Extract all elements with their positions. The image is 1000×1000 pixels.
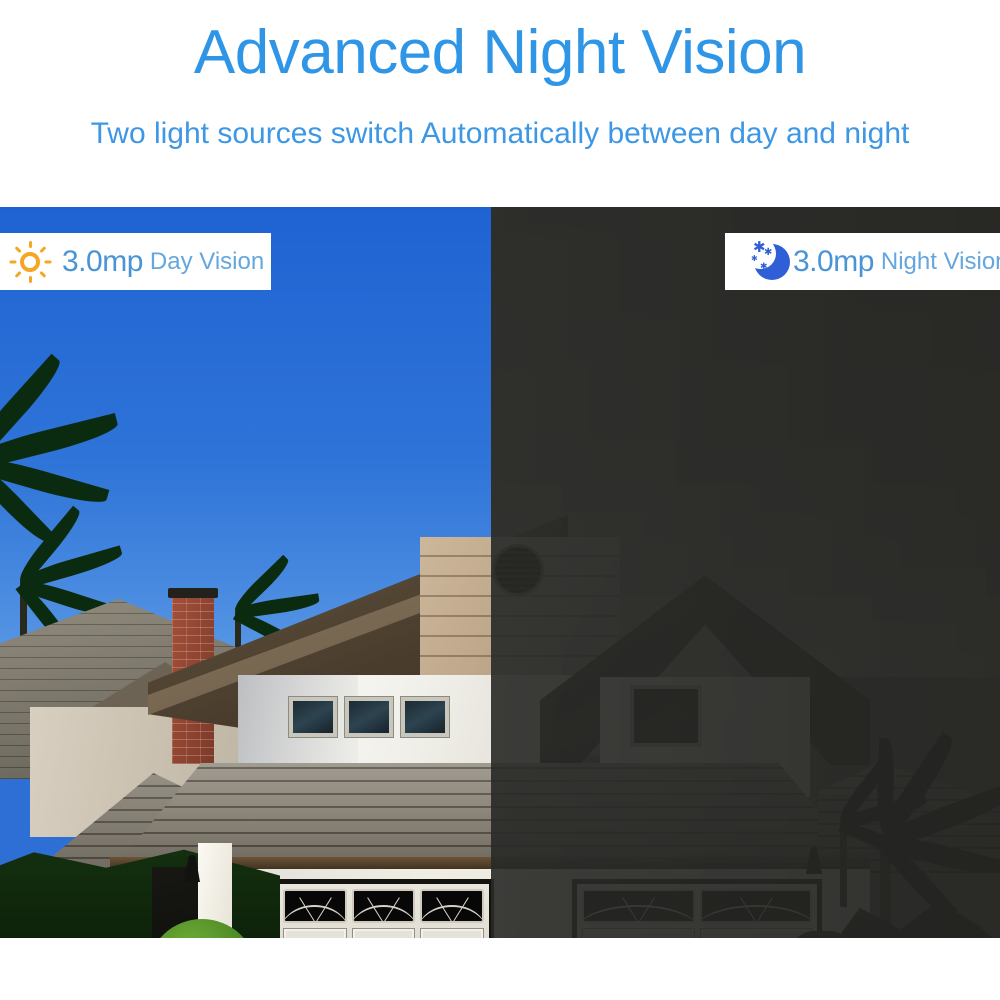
star-icon: ✱ (764, 248, 772, 258)
header: Advanced Night Vision Two light sources … (0, 0, 1000, 207)
day-vision-badge: 3.0mp Day Vision (0, 233, 271, 290)
day-megapixels: 3.0mp (62, 247, 143, 277)
fanlight-pane (420, 889, 484, 923)
fanlight-pane (352, 889, 416, 923)
page-title: Advanced Night Vision (0, 22, 1000, 84)
promo-banner: Advanced Night Vision Two light sources … (0, 0, 1000, 1000)
fanlight-pane (283, 889, 347, 923)
wall-lantern-left (184, 855, 200, 885)
upper-window-2 (345, 697, 393, 737)
night-vision-badge: ✱ ✱ ✱ ✱ 3.0mp Night Vision (725, 233, 1000, 290)
comparison-photo: 3.0mp Day Vision ✱ ✱ ✱ ✱ 3.0mp Night Vis… (0, 207, 1000, 938)
chimney-cap-left (168, 588, 218, 598)
star-icon: ✱ (760, 262, 768, 271)
night-megapixels: 3.0mp (793, 247, 874, 277)
night-vision-label: Night Vision (881, 250, 1000, 274)
night-desaturation-layer (491, 207, 1000, 938)
page-subtitle: Two light sources switch Automatically b… (0, 119, 1000, 149)
moon-stars-icon: ✱ ✱ ✱ ✱ (747, 240, 793, 284)
upper-window-1 (289, 697, 337, 737)
sun-icon (8, 240, 52, 284)
upper-window-3 (401, 697, 449, 737)
day-vision-label: Day Vision (150, 250, 264, 274)
star-icon: ✱ (751, 255, 758, 263)
